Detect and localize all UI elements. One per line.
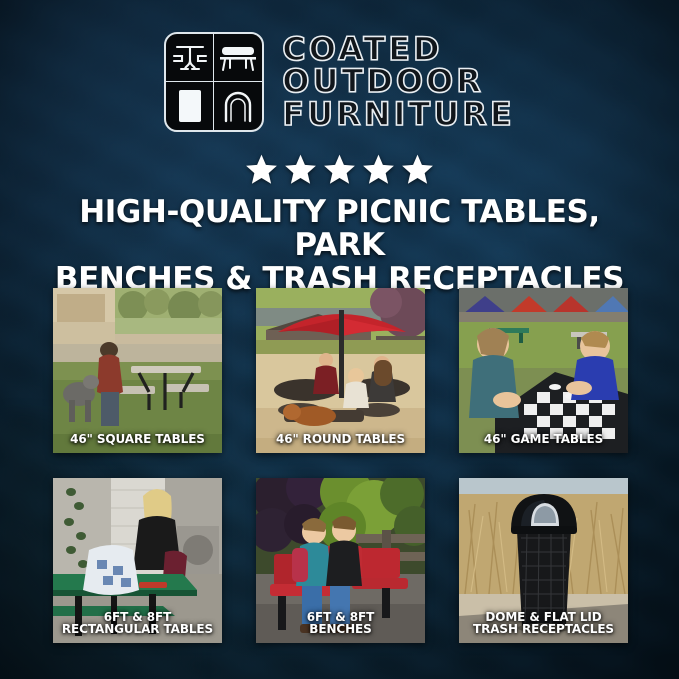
product-tile-rectangular-tables[interactable]: 6FT & 8FT RECTANGULAR TABLES (53, 478, 222, 643)
product-photo-square-tables (53, 288, 222, 453)
logo-icon-grid (164, 32, 264, 132)
product-caption: DOME & FLAT LID TRASH RECEPTACLES (459, 611, 628, 636)
star-rating (0, 152, 679, 186)
picnic-table-icon (166, 34, 214, 82)
park-bench-icon (214, 34, 262, 82)
product-caption: 46" ROUND TABLES (256, 433, 425, 446)
product-caption-line-1: 46" SQUARE TABLES (70, 432, 205, 446)
product-tile-round-tables[interactable]: 46" ROUND TABLES (256, 288, 425, 453)
product-caption: 6FT & 8FT BENCHES (256, 611, 425, 636)
star-icon (362, 153, 395, 186)
product-tile-benches[interactable]: 6FT & 8FT BENCHES (256, 478, 425, 643)
product-caption-line-1: 46" ROUND TABLES (276, 432, 405, 446)
star-icon (245, 153, 278, 186)
brand-logo: COATED OUTDOOR FURNITURE (0, 26, 679, 138)
star-icon (401, 153, 434, 186)
product-photo-game-tables (459, 288, 628, 453)
logo-word-3: FURNITURE (282, 99, 514, 130)
star-icon (284, 153, 317, 186)
product-grid: 46" SQUARE TABLES (53, 288, 626, 643)
product-caption-line-2: RECTANGULAR TABLES (56, 623, 219, 636)
product-caption-line-2: TRASH RECEPTACLES (462, 623, 625, 636)
bike-rack-icon (214, 82, 262, 130)
logo-word-2: OUTDOOR (282, 66, 514, 97)
product-caption-line-1: 46" GAME TABLES (484, 432, 603, 446)
product-caption-line-2: BENCHES (259, 623, 422, 636)
product-caption: 6FT & 8FT RECTANGULAR TABLES (53, 611, 222, 636)
product-caption: 46" GAME TABLES (459, 433, 628, 446)
product-tile-trash-receptacles[interactable]: DOME & FLAT LID TRASH RECEPTACLES (459, 478, 628, 643)
promo-banner: COATED OUTDOOR FURNITURE HIGH-QUALITY PI… (0, 0, 679, 679)
product-tile-game-tables[interactable]: 46" GAME TABLES (459, 288, 628, 453)
logo-wordmark: COATED OUTDOOR FURNITURE (282, 34, 514, 130)
product-caption: 46" SQUARE TABLES (53, 433, 222, 446)
headline-line-1: HIGH-QUALITY PICNIC TABLES, PARK (79, 194, 600, 263)
product-tile-square-tables[interactable]: 46" SQUARE TABLES (53, 288, 222, 453)
product-photo-round-tables (256, 288, 425, 453)
headline: HIGH-QUALITY PICNIC TABLES, PARK BENCHES… (30, 196, 649, 296)
star-icon (323, 153, 356, 186)
trash-receptacle-icon (166, 82, 214, 130)
logo-word-1: COATED (282, 34, 514, 65)
